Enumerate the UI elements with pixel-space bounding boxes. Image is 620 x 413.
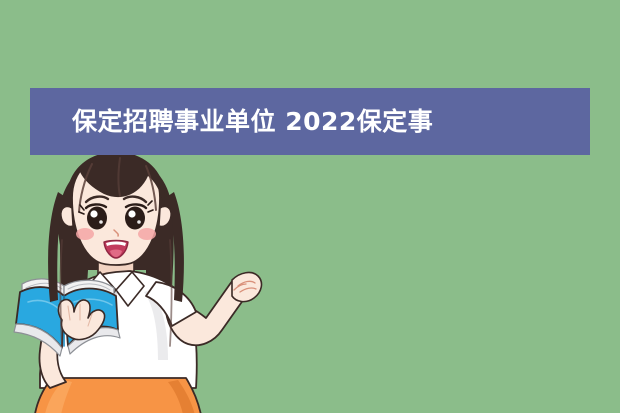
presenting-hand [232, 273, 261, 302]
title-banner: 保定招聘事业单位 2022保定事 [30, 88, 590, 155]
blush-right [138, 228, 156, 240]
page-title: 保定招聘事业单位 2022保定事 [72, 109, 433, 134]
illustration-young-woman-with-book [0, 150, 320, 413]
page-canvas: 保定招聘事业单位 2022保定事 [0, 0, 620, 413]
blush-left [76, 228, 94, 240]
